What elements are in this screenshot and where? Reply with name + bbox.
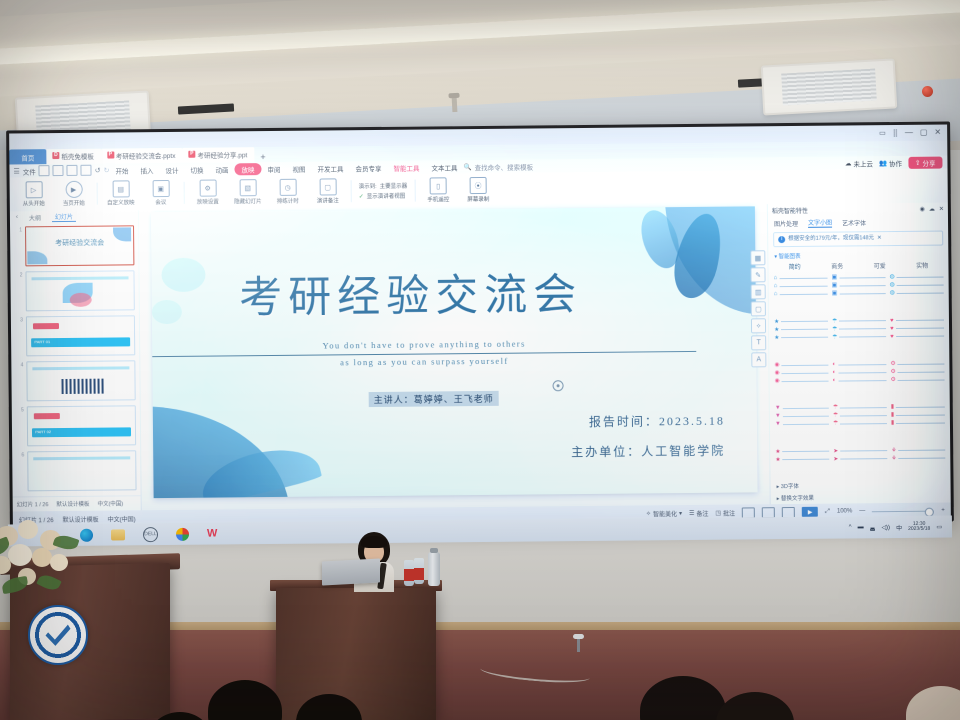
tab-pptx-1-label: 考研经验交流会.pptx bbox=[116, 149, 176, 160]
slide-organizer[interactable]: 主办单位：人工智能学院 bbox=[571, 442, 725, 460]
thumb-chart-decor bbox=[62, 379, 105, 395]
promo-notice[interactable]: i 根据安全的179元/年，现仅需148元 ✕ bbox=[773, 231, 943, 248]
people-icon: 👥 bbox=[879, 159, 887, 167]
thumb-shape-decor bbox=[69, 293, 91, 307]
star-icon: ★ bbox=[774, 327, 779, 333]
notes-icon: ☰ bbox=[689, 509, 694, 516]
sprinkler-head bbox=[452, 96, 458, 112]
slide-subtitle[interactable]: You don't have to prove anything to othe… bbox=[152, 335, 696, 372]
wifi-icon[interactable]: ◛ bbox=[870, 524, 876, 531]
slide-count: 幻灯片 1 / 26 bbox=[17, 500, 49, 508]
battery-icon[interactable]: ▬ bbox=[858, 524, 864, 530]
tab-wordart[interactable]: 艺术字体 bbox=[842, 218, 866, 227]
umbrella-icon: ☂ bbox=[832, 334, 837, 340]
zoom-slider[interactable] bbox=[872, 510, 934, 512]
menu-item-design[interactable]: 设计 bbox=[159, 164, 184, 174]
play-from-start-icon: ▷ bbox=[25, 181, 42, 198]
screen-frame: ▭ ⣿ — ▢ ✕ 首页 D 稻壳免模板 bbox=[6, 121, 954, 530]
chevron-down-icon: ▸ bbox=[777, 496, 780, 502]
tab-docer-label: 稻壳免模板 bbox=[61, 150, 94, 160]
cut-icon[interactable] bbox=[53, 165, 64, 176]
play-slideshow-button[interactable]: ▶ bbox=[802, 507, 818, 517]
icon-template-grid[interactable]: ⌂ ⌂ ⌂ ▣ ▣ ▣ ◍ ◍ bbox=[769, 272, 951, 480]
thumbnail-1[interactable]: 考研经验交流会 bbox=[25, 225, 134, 266]
target-icon: ◉ bbox=[774, 370, 779, 376]
thumb-line-decor bbox=[33, 456, 130, 460]
pen-icon[interactable]: ✎ bbox=[750, 267, 765, 282]
ribbon-play-current-label: 当页开始 bbox=[63, 199, 85, 207]
slide-panel-footer: 幻灯片 1 / 26 默认设计模板 中文(中国) bbox=[13, 495, 141, 511]
wordart-icon[interactable]: A bbox=[751, 352, 766, 367]
icon-template-card[interactable]: ➤ ➤ bbox=[833, 448, 887, 478]
presenter-view-label[interactable]: 显示演讲者视图 bbox=[367, 192, 406, 200]
apps-grid-icon[interactable]: ⣿ bbox=[893, 129, 898, 137]
mouse-cursor bbox=[553, 380, 564, 391]
ribbon-play-current[interactable]: ▶ 当页开始 bbox=[54, 181, 94, 207]
category-business[interactable]: 商务 bbox=[816, 262, 859, 271]
icon-template-card[interactable]: ◍ ◍ ◍ bbox=[890, 274, 944, 312]
thumb-line-decor bbox=[32, 366, 129, 370]
menu-item-animation[interactable]: 动画 bbox=[209, 164, 234, 174]
chevron-down-icon: ▾ bbox=[679, 510, 682, 517]
current-slide[interactable]: 考研经验交流会 You don't have to prove anything… bbox=[151, 206, 758, 498]
clock-icon: ◐ bbox=[832, 370, 836, 376]
icon-template-card[interactable]: ▮ ▮ ▮ bbox=[891, 404, 945, 442]
camera-icon: ▣ bbox=[832, 283, 838, 289]
promo-notice-text: 根据安全的179元/年，现仅需148元 bbox=[788, 235, 874, 243]
comment-icon: ◳ bbox=[715, 509, 721, 516]
section-label: 智能图表 bbox=[779, 254, 801, 260]
person-icon: ▮ bbox=[891, 412, 894, 418]
play-current-icon: ▶ bbox=[65, 181, 82, 198]
wps-presentation-window: ▭ ⣿ — ▢ ✕ 首页 D 稻壳免模板 bbox=[9, 125, 951, 528]
language-status[interactable]: 中文(中国) bbox=[97, 499, 123, 507]
settings-icon: ⚙ bbox=[891, 377, 896, 383]
globe-icon: ◍ bbox=[890, 282, 895, 288]
thumbnail-item[interactable]: 2 bbox=[14, 270, 134, 311]
slide-side-toolbar[interactable]: ▦ ✎ ▥ ▢ ✧ T A bbox=[750, 250, 766, 367]
language-status-bar[interactable]: 中文(中国) bbox=[107, 514, 135, 523]
beautify-icon[interactable]: ✧ bbox=[751, 318, 766, 333]
thumbnail-number: 2 bbox=[14, 271, 22, 278]
restore-layout-icon[interactable]: ▭ bbox=[879, 129, 886, 137]
heart-icon: ♥ bbox=[890, 318, 894, 324]
shirt-icon: ▼ bbox=[775, 413, 781, 419]
info-icon: i bbox=[778, 236, 785, 243]
cloud-icon[interactable]: ☁ bbox=[929, 206, 935, 213]
menu-item-smart-tools[interactable]: 智能工具 bbox=[387, 162, 425, 172]
phone-remote-icon: ▯ bbox=[430, 177, 447, 194]
person-icon: ▮ bbox=[891, 420, 894, 426]
file-menu[interactable]: 文件 bbox=[23, 166, 36, 176]
wps-icon[interactable]: W bbox=[207, 528, 217, 539]
slide-sorter-icon[interactable] bbox=[762, 507, 775, 518]
template-name[interactable]: 默认设计模板 bbox=[56, 500, 89, 508]
fit-slide-icon[interactable]: ⤢ bbox=[825, 508, 830, 515]
icon-template-card[interactable]: ▣ ▣ ▣ bbox=[832, 275, 886, 313]
tab-text-icons[interactable]: 文字小图 bbox=[808, 218, 832, 228]
cloud-status-label: 未上云 bbox=[853, 158, 873, 168]
print-icon[interactable] bbox=[67, 165, 78, 176]
tab-home[interactable]: 首页 bbox=[9, 149, 46, 164]
thumb-badge-decor bbox=[34, 413, 60, 419]
format-painter-icon[interactable] bbox=[81, 165, 92, 176]
thumbnail-item[interactable]: 5 PART 02 bbox=[16, 405, 136, 446]
beautify-icon: ✧ bbox=[646, 510, 651, 517]
zoom-level: 100% bbox=[837, 508, 852, 514]
laptop bbox=[322, 558, 380, 585]
slide-report-time[interactable]: 报告时间：2023.5.18 bbox=[589, 412, 725, 430]
shirt-icon: ▼ bbox=[775, 405, 781, 411]
thumb-leaf-decor bbox=[27, 251, 47, 264]
chevron-up-icon[interactable]: ^ bbox=[849, 524, 852, 530]
thumb-section-bar: PART 02 bbox=[32, 427, 131, 437]
thumb-badge-decor bbox=[33, 323, 59, 329]
camera-icon[interactable]: ◉ bbox=[920, 206, 925, 213]
meeting-icon: ▣ bbox=[152, 180, 169, 197]
taskbar-clock[interactable]: 12:30 2023/5/18 bbox=[908, 521, 930, 532]
flower-bouquet bbox=[0, 520, 100, 610]
thumbnail-5-title: PART 02 bbox=[35, 429, 51, 434]
explorer-icon[interactable] bbox=[111, 529, 125, 540]
icon-template-card[interactable]: ◐ ◐ ◐ bbox=[832, 361, 886, 399]
fire-alarm-icon bbox=[922, 86, 933, 97]
thumbnail-6[interactable] bbox=[27, 450, 136, 491]
water-bottle bbox=[414, 558, 424, 584]
share-label: 分享 bbox=[922, 157, 935, 167]
star-icon: ★ bbox=[775, 449, 780, 455]
thumbnail-number: 4 bbox=[15, 361, 23, 368]
chrome-icon[interactable] bbox=[176, 527, 189, 540]
clock-date: 2023/5/18 bbox=[908, 527, 930, 532]
icon-template-card[interactable]: ⚙ ⚙ ⚙ bbox=[890, 361, 944, 399]
tab-pptx-1[interactable]: P 考研经验交流会.pptx bbox=[101, 147, 183, 164]
umbrella-icon: ☂ bbox=[833, 405, 838, 411]
save-icon[interactable] bbox=[39, 165, 50, 176]
ribbon-custom-show[interactable]: ▤ 自定义放映 bbox=[101, 180, 141, 206]
clock-icon: ◐ bbox=[832, 362, 836, 368]
home-icon: ⌂ bbox=[774, 292, 778, 298]
thumb-line-decor bbox=[32, 276, 129, 280]
menu-item-review[interactable]: 审阅 bbox=[261, 163, 286, 173]
umbrella-icon: ☂ bbox=[832, 318, 837, 324]
ribbon-hide-slide-label: 隐藏幻灯片 bbox=[234, 197, 262, 205]
thumbnail-5[interactable]: PART 02 bbox=[27, 405, 136, 446]
icon-template-card[interactable]: ⚘ ⚘ bbox=[891, 447, 945, 477]
ppt-file-icon: P bbox=[107, 152, 114, 159]
clock-icon: ◐ bbox=[833, 378, 837, 384]
comments-button[interactable]: ◳ 批注 bbox=[715, 508, 735, 517]
notifications-icon[interactable]: ▭ bbox=[936, 523, 942, 530]
star-icon: ★ bbox=[774, 335, 779, 341]
dell-icon[interactable]: DELL bbox=[143, 527, 158, 542]
home-icon: ⌂ bbox=[774, 284, 778, 290]
collaborate-button[interactable]: 👥 协作 bbox=[879, 157, 902, 167]
tab-ppt-active-label: 考研经验分享.ppt bbox=[197, 149, 247, 159]
minimize-button[interactable]: — bbox=[905, 129, 913, 137]
icon-template-card[interactable]: ★ ★ bbox=[775, 448, 829, 478]
slide-edit-area[interactable]: 考研经验交流会 You don't have to prove anything… bbox=[139, 204, 770, 510]
stage-microphone bbox=[577, 638, 580, 652]
menu-hamburger-icon[interactable]: ☰ bbox=[13, 167, 19, 175]
ribbon-play-from-start[interactable]: ▷ 从头开始 bbox=[14, 181, 54, 207]
icon-template-card[interactable]: ☂ ☂ ☂ bbox=[833, 404, 887, 442]
globe-icon: ◍ bbox=[890, 290, 895, 296]
slide-title[interactable]: 考研经验交流会 bbox=[151, 259, 670, 326]
ribbon-show-settings[interactable]: ⚙ 放映设置 bbox=[188, 179, 228, 205]
ppt-file-icon: P bbox=[188, 151, 195, 158]
rehearse-timing-icon: ◷ bbox=[279, 179, 296, 196]
target-icon: ◉ bbox=[774, 362, 779, 368]
star-icon: ★ bbox=[774, 319, 779, 325]
ribbon-speaker-notes-label: 演讲备注 bbox=[317, 196, 339, 204]
zoom-in-button[interactable]: + bbox=[941, 508, 945, 514]
search-placeholder: 查找命令、搜索模板 bbox=[475, 161, 534, 172]
umbrella-icon: ☂ bbox=[833, 421, 838, 427]
menu-item-start[interactable]: 开始 bbox=[109, 165, 134, 175]
settings-icon: ⚙ bbox=[890, 369, 895, 375]
presenter-fringe bbox=[361, 536, 387, 548]
settings-icon: ⚙ bbox=[890, 361, 895, 367]
search-icon: 🔍 bbox=[463, 163, 471, 171]
share-button[interactable]: ⇪ 分享 bbox=[908, 156, 943, 168]
icon-template-card[interactable]: ⌂ ⌂ ⌂ bbox=[774, 275, 828, 313]
menu-item-text-tools[interactable]: 文本工具 bbox=[425, 162, 463, 172]
checkbox-checked-icon[interactable]: ✓ bbox=[359, 193, 364, 200]
thumbnail-1-title: 考研经验交流会 bbox=[55, 237, 104, 247]
reading-view-icon[interactable] bbox=[782, 506, 795, 517]
university-emblem bbox=[28, 605, 88, 665]
ribbon-phone-remote-label: 手机遥控 bbox=[427, 195, 449, 203]
task-pane-tabs: 图片处理 文字小图 艺术字体 bbox=[768, 216, 948, 230]
camera-icon: ▣ bbox=[832, 275, 838, 281]
docer-icon: D bbox=[52, 152, 59, 159]
gift-icon: ⚘ bbox=[891, 456, 896, 462]
ribbon-phone-remote[interactable]: ▯ 手机遥控 bbox=[418, 177, 458, 203]
speaker-notes-icon: ▢ bbox=[319, 178, 336, 195]
picture-icon[interactable]: ▥ bbox=[751, 284, 766, 299]
icon-template-card[interactable]: ☂ ☂ ☂ bbox=[832, 318, 886, 356]
thumbnail-item[interactable]: 6 bbox=[16, 450, 136, 491]
normal-view-icon[interactable] bbox=[742, 507, 755, 518]
tab-docer-template[interactable]: D 稻壳免模板 bbox=[46, 148, 101, 165]
text-box-icon[interactable]: T bbox=[751, 335, 766, 350]
menu-item-transition[interactable]: 切换 bbox=[184, 164, 209, 174]
ribbon-custom-show-label: 自定义放映 bbox=[107, 198, 135, 206]
new-tab-button[interactable]: + bbox=[254, 152, 271, 162]
star-icon: ★ bbox=[775, 457, 780, 463]
send-icon: ➤ bbox=[833, 448, 838, 454]
ribbon-play-from-start-label: 从头开始 bbox=[23, 199, 45, 207]
camera-icon: ▣ bbox=[832, 291, 838, 297]
task-pane-title: 稻壳智能特性 bbox=[772, 206, 808, 215]
menu-item-member[interactable]: 会员专享 bbox=[349, 162, 387, 172]
promo-close-icon[interactable]: ✕ bbox=[877, 235, 882, 242]
shirt-icon: ▼ bbox=[775, 421, 781, 427]
chevron-down-icon: ▸ bbox=[777, 484, 780, 490]
cloud-status[interactable]: ☁ 未上云 bbox=[845, 158, 873, 168]
umbrella-icon: ☂ bbox=[833, 413, 838, 419]
custom-show-icon: ▤ bbox=[112, 180, 129, 197]
tab-slides[interactable]: 幻灯片 bbox=[52, 212, 76, 222]
target-icon: ◉ bbox=[775, 378, 780, 384]
monitor-value[interactable]: 主要显示器 bbox=[380, 182, 408, 190]
projection-screen: ▭ ⣿ — ▢ ✕ 首页 D 稻壳免模板 bbox=[6, 121, 954, 530]
ac-diffuser bbox=[761, 58, 898, 115]
share-icon: ⇪ bbox=[915, 158, 921, 166]
heart-icon: ♥ bbox=[890, 326, 894, 332]
ribbon-speaker-notes[interactable]: ▢ 演讲备注 bbox=[308, 178, 348, 204]
hide-slide-icon: ▧ bbox=[239, 179, 256, 196]
command-search[interactable]: 🔍 查找命令、搜索模板 bbox=[463, 161, 533, 172]
thumbnail-number: 1 bbox=[14, 226, 22, 233]
thumbnail-number: 3 bbox=[15, 316, 23, 323]
undo-icon[interactable]: ↺ bbox=[95, 166, 101, 174]
thumbnail-number: 5 bbox=[16, 406, 24, 413]
volume-icon[interactable]: ◁)) bbox=[881, 524, 890, 531]
thumbnail-item[interactable]: 4 bbox=[15, 360, 135, 401]
category-cute[interactable]: 可爱 bbox=[858, 261, 901, 270]
icon-template-card[interactable]: ▼ ▼ ▼ bbox=[775, 405, 829, 443]
comments-label: 批注 bbox=[723, 508, 735, 517]
shape-icon[interactable]: ▢ bbox=[751, 301, 766, 316]
thumbnail-3-title: PART 01 bbox=[34, 339, 50, 344]
presenter-desk bbox=[276, 588, 436, 720]
layout-icon[interactable]: ▦ bbox=[750, 250, 765, 265]
thumbnail-item[interactable]: 3 PART 01 bbox=[15, 315, 135, 356]
menu-item-devtools[interactable]: 开发工具 bbox=[311, 163, 349, 173]
maximize-button[interactable]: ▢ bbox=[920, 129, 928, 137]
person-icon: ▮ bbox=[891, 404, 894, 410]
thermos-flask bbox=[428, 552, 440, 586]
icon-template-card[interactable]: ◉ ◉ ◉ bbox=[774, 362, 828, 400]
slide-speaker-text[interactable]: 主讲人：葛婷婷、王飞老师 bbox=[369, 391, 499, 407]
slide-thumbnail-panel: ‹ 大纲 幻灯片 1 考研经验交流会 bbox=[10, 210, 142, 511]
home-icon: ⌂ bbox=[774, 276, 778, 282]
collaborate-label: 协作 bbox=[889, 157, 902, 167]
cloud-icon: ☁ bbox=[845, 159, 852, 167]
ribbon-rehearse-timing[interactable]: ◷ 排练计时 bbox=[268, 179, 308, 205]
thumbnail-number: 6 bbox=[16, 451, 24, 458]
lecture-hall-photo: ▭ ⣿ — ▢ ✕ 首页 D 稻壳免模板 bbox=[0, 0, 960, 720]
category-simple[interactable]: 简约 bbox=[773, 262, 816, 271]
tab-image-processing[interactable]: 图片处理 bbox=[774, 218, 798, 227]
icon-template-card[interactable]: ♥ ♥ ♥ bbox=[890, 317, 944, 355]
menu-item-view[interactable]: 视图 bbox=[286, 163, 311, 173]
beautify-label: 智能美化 bbox=[653, 509, 677, 518]
globe-icon: ◍ bbox=[890, 274, 895, 280]
tab-home-label: 首页 bbox=[21, 152, 34, 162]
screen-record-icon: ⦿ bbox=[470, 177, 487, 194]
beautify-button[interactable]: ✧ 智能美化 ▾ bbox=[646, 509, 682, 518]
tab-ppt-active[interactable]: P 考研经验分享.ppt bbox=[182, 146, 254, 163]
footer-texteffect-label: 替换文字效果 bbox=[781, 496, 814, 502]
category-real[interactable]: 实物 bbox=[901, 261, 944, 270]
zoom-out-button[interactable]: — bbox=[859, 508, 865, 514]
thumbnail-list[interactable]: 1 考研经验交流会 2 bbox=[10, 222, 141, 496]
monitor-label: 演示到: bbox=[359, 182, 377, 190]
menu-item-insert[interactable]: 插入 bbox=[134, 165, 159, 175]
thumbnail-4[interactable] bbox=[26, 360, 135, 401]
workspace: ‹ 大纲 幻灯片 1 考研经验交流会 bbox=[10, 203, 951, 512]
show-settings-icon: ⚙ bbox=[199, 180, 216, 197]
ribbon-meeting[interactable]: ▣ 会议 bbox=[141, 180, 181, 206]
notes-button[interactable]: ☰ 备注 bbox=[689, 508, 708, 517]
ribbon-rehearse-timing-label: 排练计时 bbox=[277, 197, 299, 205]
thumb-section-bar: PART 01 bbox=[31, 337, 130, 347]
ribbon-screen-record[interactable]: ⦿ 屏幕录制 bbox=[458, 177, 498, 203]
ime-indicator[interactable]: 中 bbox=[896, 522, 902, 531]
footer-3d-label: 3D字体 bbox=[781, 484, 799, 490]
menu-item-slideshow[interactable]: 放映 bbox=[234, 163, 261, 175]
icon-template-card[interactable]: ★ ★ ★ bbox=[774, 318, 828, 356]
umbrella-icon: ☂ bbox=[832, 326, 837, 332]
gift-icon: ⚘ bbox=[891, 448, 896, 454]
ribbon-meeting-label: 会议 bbox=[155, 198, 166, 206]
send-icon: ➤ bbox=[833, 456, 838, 462]
close-icon[interactable]: ✕ bbox=[939, 206, 944, 213]
thumbnail-item[interactable]: 1 考研经验交流会 bbox=[14, 225, 134, 266]
thumbnail-2[interactable] bbox=[25, 270, 134, 311]
ribbon-show-settings-label: 放映设置 bbox=[197, 198, 219, 206]
thumbnail-3[interactable]: PART 01 bbox=[26, 315, 135, 356]
tab-outline[interactable]: 大纲 bbox=[26, 213, 44, 222]
ribbon-monitor-group: 演示到: 主要显示器 ✓ 显示演讲者视图 bbox=[355, 182, 412, 201]
heart-icon: ♥ bbox=[890, 334, 894, 340]
docer-task-pane: 稻壳智能特性 ◉ ☁ ✕ 图片处理 文字小图 艺术字体 i bbox=[767, 203, 951, 505]
chevron-down-icon: ▾ bbox=[774, 255, 777, 261]
thumb-leaf-decor bbox=[113, 227, 131, 241]
water-bottle bbox=[404, 560, 414, 586]
ribbon-screen-record-label: 屏幕录制 bbox=[467, 195, 489, 203]
collapse-panel-icon[interactable]: ‹ bbox=[16, 214, 18, 220]
notes-label: 备注 bbox=[696, 508, 708, 517]
close-button[interactable]: ✕ bbox=[934, 129, 941, 137]
ribbon-hide-slide[interactable]: ▧ 隐藏幻灯片 bbox=[228, 179, 268, 205]
